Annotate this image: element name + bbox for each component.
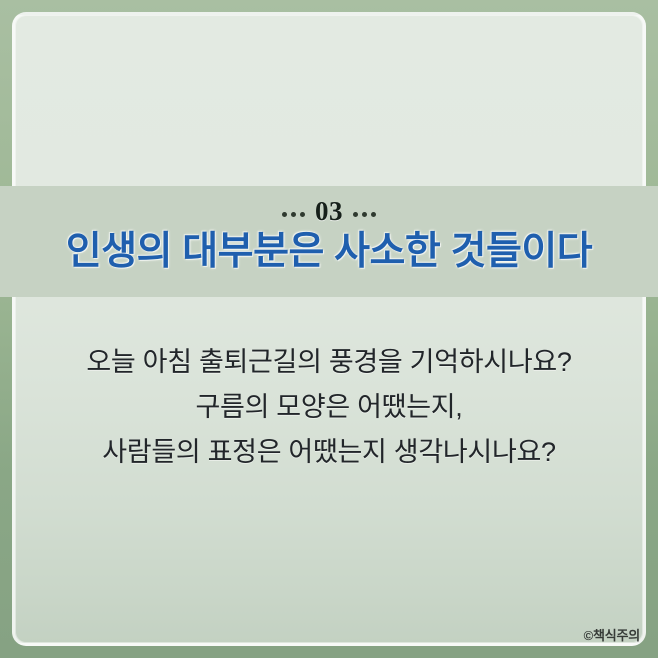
chapter-number: 03	[315, 198, 343, 225]
title-band-inner: 03 인생의 대부분은 사소한 것들이다	[0, 186, 658, 297]
content-card: 03 인생의 대부분은 사소한 것들이다 오늘 아침 출퇴근길의 풍경을 기억하…	[0, 0, 658, 658]
chapter-row: 03	[282, 194, 376, 228]
inner-panel	[12, 12, 646, 646]
page-title: 인생의 대부분은 사소한 것들이다	[66, 229, 592, 275]
body-line-2: 구름의 모양은 어땠는지,	[0, 385, 658, 430]
body-text-block: 오늘 아침 출퇴근길의 풍경을 기억하시나요? 구름의 모양은 어땠는지, 사람…	[0, 340, 658, 475]
title-band: 03 인생의 대부분은 사소한 것들이다	[0, 186, 658, 297]
watermark-credit: ©책식주의	[584, 625, 640, 644]
body-line-1: 오늘 아침 출퇴근길의 풍경을 기억하시나요?	[0, 340, 658, 385]
dots-right-icon	[353, 206, 376, 217]
body-line-3: 사람들의 표정은 어땠는지 생각나시나요?	[0, 430, 658, 475]
dots-left-icon	[282, 206, 305, 217]
